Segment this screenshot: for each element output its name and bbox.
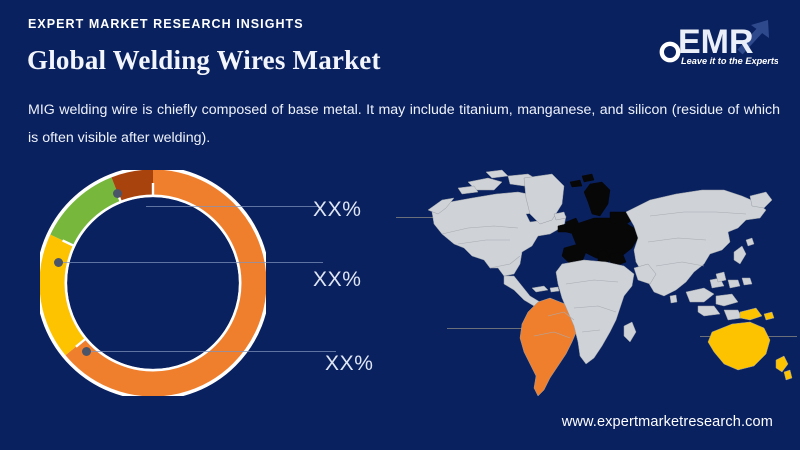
map-region-oceania: [708, 308, 792, 380]
callout-bottom: XX%: [325, 352, 374, 376]
map-region-north-america: [428, 170, 566, 306]
callout-leader-middle: [58, 262, 323, 263]
callout-dot-middle: [54, 258, 63, 267]
map-region-europe: [558, 174, 638, 268]
emr-logo[interactable]: EMR Leave it to the Experts!: [656, 12, 778, 70]
kicker-label: EXPERT MARKET RESEARCH INSIGHTS: [28, 17, 304, 31]
callout-leader-top: [146, 206, 319, 207]
page-title: Global Welding Wires Market: [27, 45, 381, 76]
svg-text:Leave it to the Experts!: Leave it to the Experts!: [681, 56, 778, 66]
ring-icon: [662, 44, 678, 60]
callout-dot-bottom: [82, 347, 91, 356]
world-map: [398, 156, 796, 404]
slide-canvas: EXPERT MARKET RESEARCH INSIGHTS Global W…: [0, 0, 800, 450]
website-url[interactable]: www.expertmarketresearch.com: [562, 414, 773, 430]
callout-top: XX%: [313, 198, 362, 222]
callout-dot-top: [113, 189, 122, 198]
donut-chart: [40, 170, 266, 396]
map-region-asia: [626, 190, 772, 320]
intro-paragraph: MIG welding wire is chiefly composed of …: [28, 96, 780, 152]
callout-leader-bottom: [86, 351, 336, 352]
callout-middle: XX%: [313, 268, 362, 292]
